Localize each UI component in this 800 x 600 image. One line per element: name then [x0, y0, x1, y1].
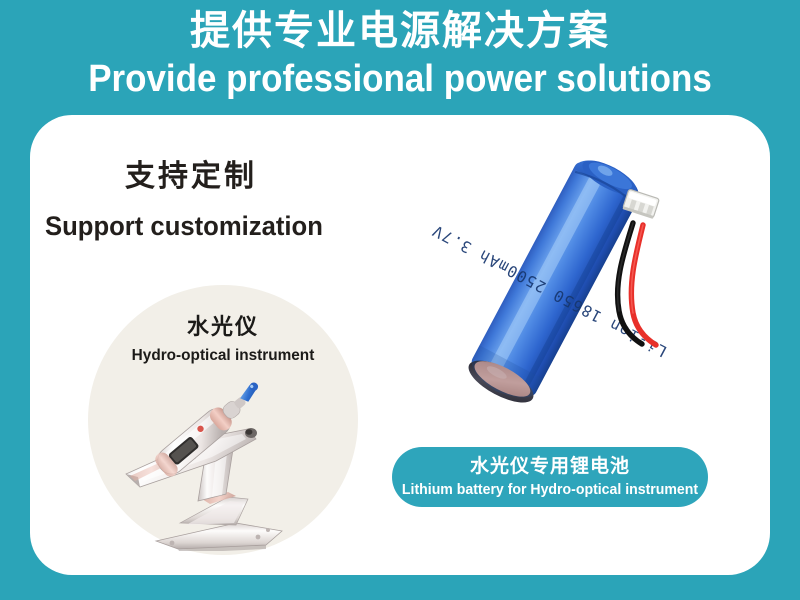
lithium-18650-battery-icon: Li-ion 18650 2500mAh 3.7V	[390, 115, 720, 445]
battery-wires	[618, 223, 656, 345]
hydro-optical-instrument-icon	[116, 373, 331, 551]
poster-header: 提供专业电源解决方案 Provide professional power so…	[0, 0, 800, 112]
battery-image: Li-ion 18650 2500mAh 3.7V	[390, 115, 720, 445]
battery-caption-badge: 水光仪专用锂电池 Lithium battery for Hydro-optic…	[392, 447, 708, 507]
battery-cell: Li-ion 18650 2500mAh 3.7V	[390, 115, 720, 445]
battery-caption-chinese: 水光仪专用锂电池	[392, 454, 708, 479]
instrument-badge: 水光仪 Hydro-optical instrument	[88, 285, 358, 555]
headline-chinese: 提供专业电源解决方案	[0, 6, 800, 56]
instrument-label-english: Hydro-optical instrument	[93, 345, 352, 367]
support-customization-chinese: 支持定制	[125, 158, 257, 196]
promo-poster: 提供专业电源解决方案 Provide professional power so…	[0, 0, 800, 600]
instrument-base	[156, 492, 282, 551]
headline-english: Provide professional power solutions	[32, 55, 768, 103]
support-customization-english: Support customization	[45, 208, 323, 244]
instrument-label-chinese: 水光仪	[88, 313, 358, 341]
battery-caption-english: Lithium battery for Hydro-optical instru…	[401, 479, 698, 500]
